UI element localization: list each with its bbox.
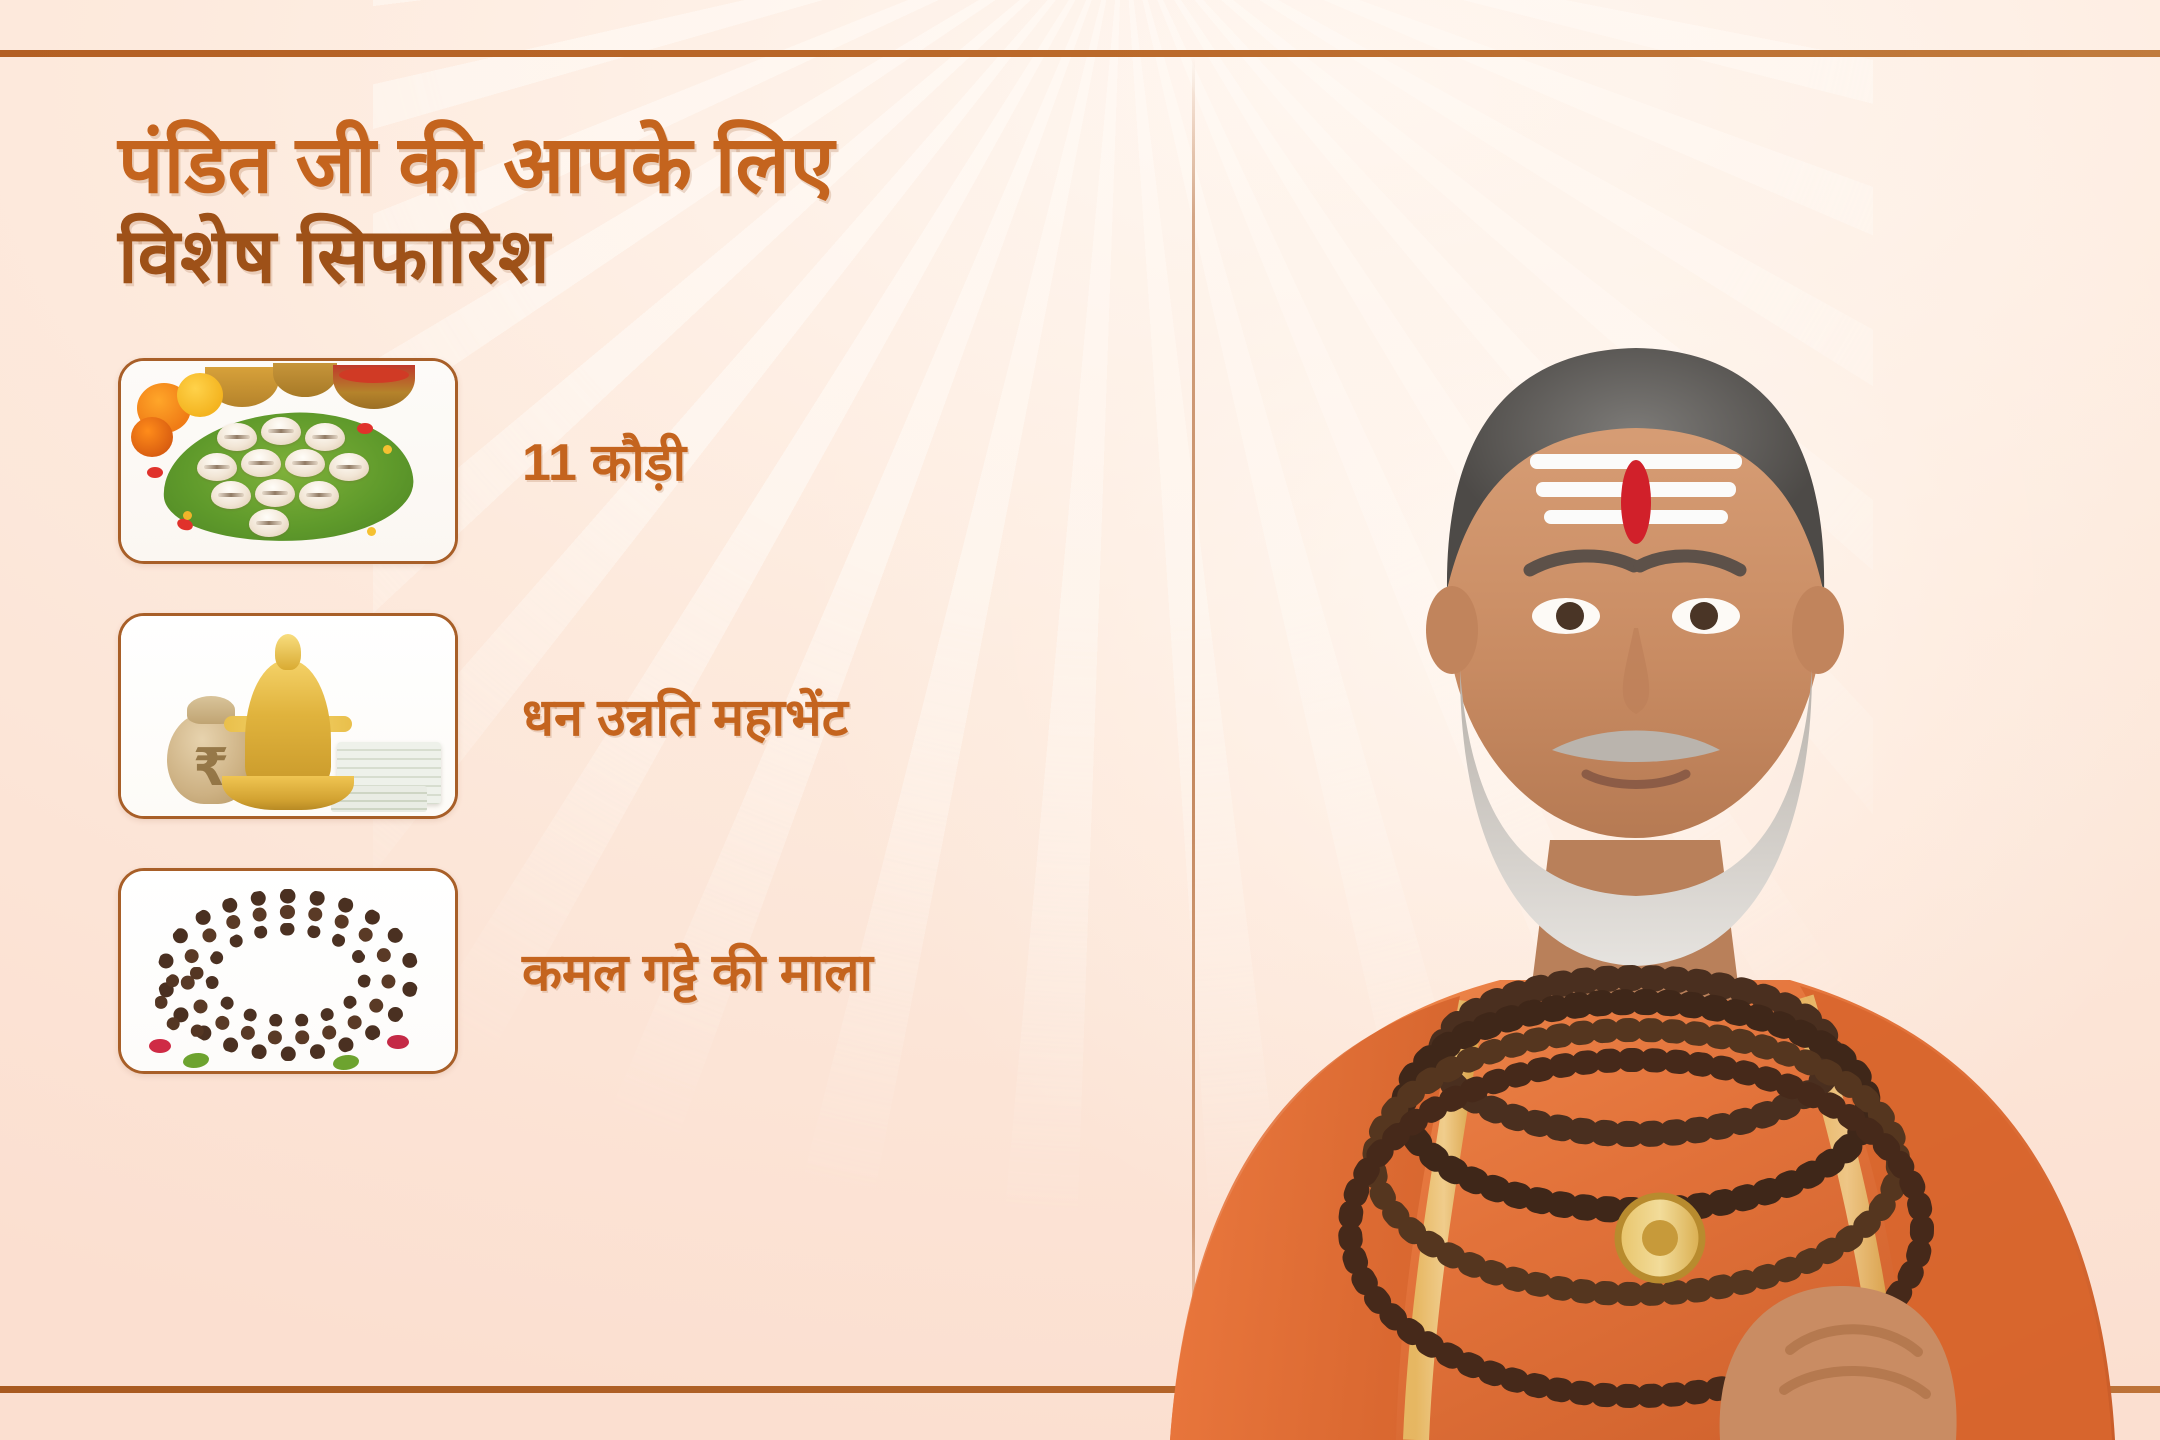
list-divider [124,587,944,590]
list-divider [124,842,944,845]
list-item[interactable]: 11 कौड़ी [118,361,1158,561]
promotional-banner: पंडित जी की आपके लिए विशेष सिफारिश [0,0,2160,1440]
list-item-label: धन उन्नति महाभेंट [522,680,848,751]
headline-line-1: पंडित जी की आपके लिए [118,120,1158,210]
list-item-label: कमल गट्टे की माला [522,935,873,1006]
lotus-seed-mala-thumbnail [118,868,458,1074]
list-item[interactable]: कमल गट्टे की माला [118,871,1158,1071]
page-title: पंडित जी की आपके लिए विशेष सिफारिश [118,120,1158,299]
list-item[interactable]: ₹ धन उन्नति महाभेंट [118,616,1158,816]
cowrie-shells-on-betel-leaf-thumbnail [118,358,458,564]
recommendation-list: 11 कौड़ी ₹ धन उन्नति महाभेंट [118,361,1158,1071]
golden-lakshmi-idol-money-bag-thumbnail: ₹ [118,613,458,819]
content-column: पंडित जी की आपके लिए विशेष सिफारिश [118,120,1158,1071]
headline-line-2: विशेष सिफारिश [118,214,1158,299]
pandit-ji-portrait [1100,50,2160,1440]
list-item-label: 11 कौड़ी [522,425,686,496]
